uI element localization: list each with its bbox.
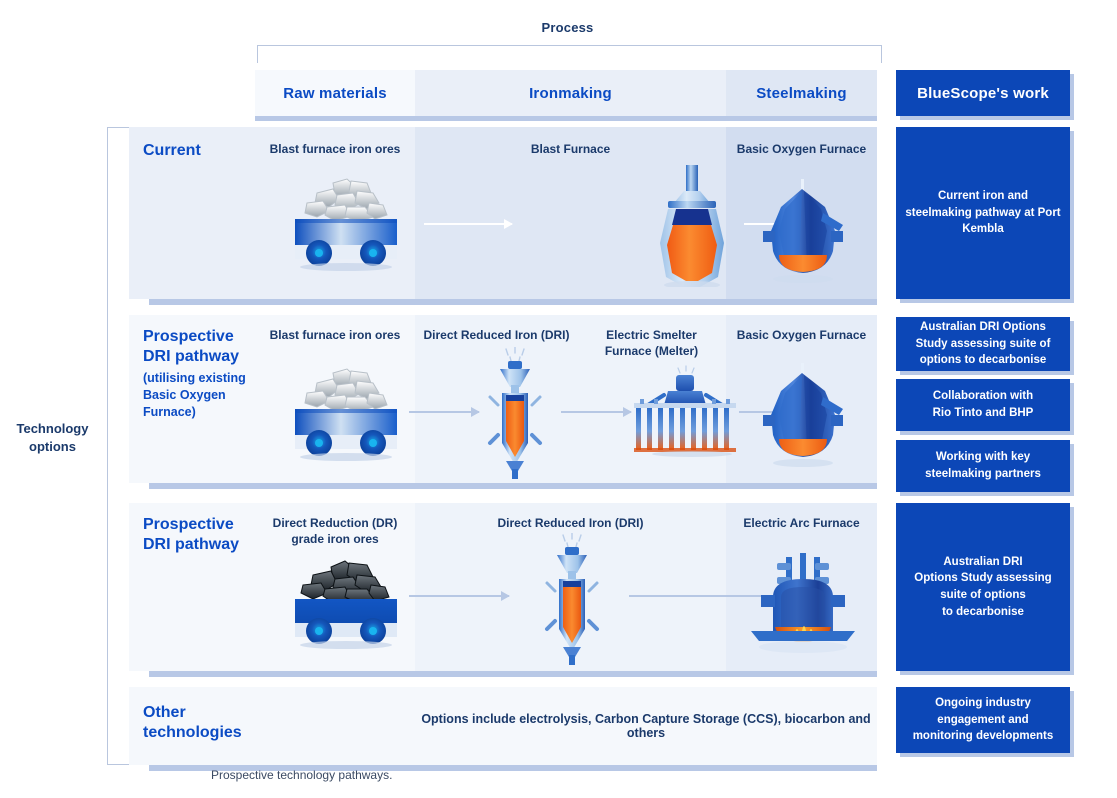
row-title-line2: DRI pathway <box>143 536 239 553</box>
row-title-prospective-dri-eaf: Prospective DRI pathway <box>143 515 263 555</box>
pathway-row-current: Current Blast furnace iron ores Blast Fu… <box>129 127 877 299</box>
dri-shaft-furnace-icon <box>484 347 546 479</box>
step-caption-basic-oxygen-furnace: Basic Oxygen Furnace <box>726 141 877 157</box>
row-title-line2: DRI pathway <box>143 348 239 365</box>
flow-arrow-1 <box>409 595 509 597</box>
row-shadow-current <box>149 299 877 305</box>
ore-cart-grey-icon <box>287 365 405 461</box>
dri-shaft-furnace-icon <box>541 533 603 665</box>
work-box-text: Australian DRI OptionsStudy assessing su… <box>916 319 1051 369</box>
work-box-ongoing-industry-engagement: Ongoing industryengagement andmonitoring… <box>896 687 1070 753</box>
step-caption-direct-reduced-iron: Direct Reduced Iron (DRI) <box>419 327 574 343</box>
caption-line1: Electric Smelter <box>606 328 697 342</box>
step-caption-blast-furnace-iron-ores: Blast furnace iron ores <box>255 141 415 157</box>
row-title-text: Current <box>143 142 201 159</box>
flow-arrow-1 <box>409 411 479 413</box>
pathway-row-other-technologies: Other technologies Options include elect… <box>129 687 877 765</box>
work-box-text: Ongoing industryengagement andmonitoring… <box>913 695 1054 745</box>
work-box-australian-dri-options-study: Australian DRI OptionsStudy assessing su… <box>896 317 1070 371</box>
row-subtitle-line2: Basic Oxygen Furnace) <box>143 387 263 421</box>
pathway-row-prospective-dri-bof: Prospective DRI pathway (utilising exist… <box>129 315 877 483</box>
work-box-collaboration-rio-tinto-bhp: Collaboration withRio Tinto and BHP <box>896 379 1070 431</box>
technology-options-line1: Technology <box>17 421 89 436</box>
basic-oxygen-furnace-icon <box>755 359 851 469</box>
work-box-australian-dri-options-study-eaf: Australian DRIOptions Study assessingsui… <box>896 503 1070 671</box>
column-header-raw-materials: Raw materials <box>255 70 415 116</box>
header-underline <box>255 116 877 121</box>
row-title-line2: technologies <box>143 724 242 741</box>
ore-cart-grey-icon <box>287 175 405 271</box>
work-box-text: Collaboration withRio Tinto and BHP <box>933 388 1034 421</box>
technology-options-bracket <box>107 127 129 765</box>
ore-cart-dark-icon <box>287 553 405 649</box>
flow-arrow-2 <box>561 411 631 413</box>
row-subtitle-line1: (utilising existing <box>143 370 263 387</box>
column-header-bluescopes-work: BlueScope's work <box>896 70 1070 116</box>
column-header-steelmaking: Steelmaking <box>726 70 877 116</box>
row-title-prospective-dri-bof: Prospective DRI pathway (utilising exist… <box>143 327 263 421</box>
pathways-diagram: Process Raw materials Ironmaking Steelma… <box>0 0 1117 798</box>
technology-options-label: Technology options <box>0 420 105 455</box>
other-technologies-text: Options include electrolysis, Carbon Cap… <box>415 712 877 740</box>
caption-line2: Furnace (Melter) <box>605 344 698 358</box>
work-box-text: Current iron and steelmaking pathway at … <box>904 188 1062 238</box>
step-caption-blast-furnace-iron-ores: Blast furnace iron ores <box>255 327 415 343</box>
process-label: Process <box>255 20 880 35</box>
figure-caption: Prospective technology pathways. <box>211 768 392 782</box>
step-caption-electric-smelter-furnace: Electric Smelter Furnace (Melter) <box>579 327 724 359</box>
electric-arc-furnace-icon <box>751 547 855 657</box>
work-box-working-with-key-partners: Working with keysteelmaking partners <box>896 440 1070 492</box>
step-caption-electric-arc-furnace: Electric Arc Furnace <box>726 515 877 531</box>
row-shadow-prospective-dri-bof <box>149 483 877 489</box>
row-title-other-technologies: Other technologies <box>143 703 263 743</box>
process-bracket <box>257 45 882 63</box>
work-box-text: Australian DRIOptions Study assessingsui… <box>914 554 1051 621</box>
basic-oxygen-furnace-icon <box>755 175 851 285</box>
row-title-current: Current <box>143 141 263 161</box>
row-shadow-prospective-dri-eaf <box>149 671 877 677</box>
row-band-raw <box>255 687 415 765</box>
electric-smelter-furnace-icon <box>634 365 736 457</box>
caption-line1: Direct Reduction (DR) <box>273 516 398 530</box>
work-box-current: Current iron and steelmaking pathway at … <box>896 127 1070 299</box>
work-box-text: Working with keysteelmaking partners <box>925 449 1041 482</box>
step-caption-direct-reduced-iron: Direct Reduced Iron (DRI) <box>415 515 726 531</box>
column-header-ironmaking: Ironmaking <box>415 70 726 116</box>
row-title-line1: Other <box>143 704 186 721</box>
other-technologies-body: Options include electrolysis, Carbon Cap… <box>415 687 877 765</box>
step-caption-dr-grade-iron-ores: Direct Reduction (DR) grade iron ores <box>255 515 415 547</box>
row-title-line1: Prospective <box>143 516 234 533</box>
row-title-line1: Prospective <box>143 328 234 345</box>
blast-furnace-icon <box>638 165 746 287</box>
pathway-row-prospective-dri-eaf: Prospective DRI pathway Direct Reduction… <box>129 503 877 671</box>
flow-arrow-1 <box>424 223 512 225</box>
technology-options-line2: options <box>29 439 76 454</box>
step-caption-blast-furnace: Blast Furnace <box>415 141 726 157</box>
step-caption-basic-oxygen-furnace: Basic Oxygen Furnace <box>726 327 877 343</box>
caption-line2: grade iron ores <box>291 532 378 546</box>
